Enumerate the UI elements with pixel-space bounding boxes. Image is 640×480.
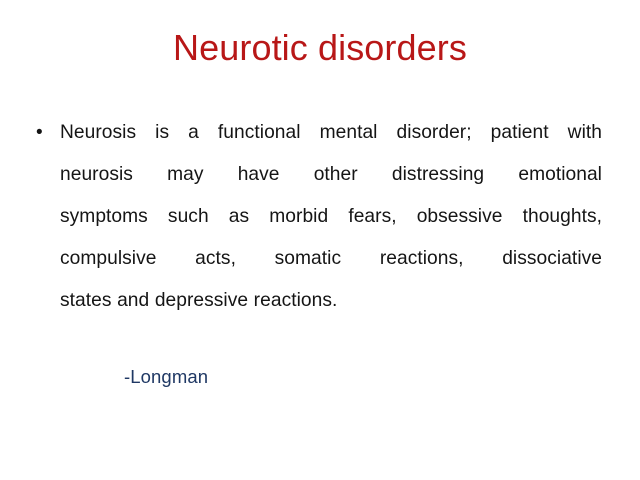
page-title: Neurotic disorders	[0, 26, 640, 70]
body-line: Neurosis is a functional mental disorder…	[60, 112, 602, 154]
body-line: states and depressive reactions.	[60, 280, 602, 322]
presentation-slide: Neurotic disorders • Neurosis is a funct…	[0, 0, 640, 480]
source-attribution: -Longman	[124, 364, 208, 390]
list-item: • Neurosis is a functional mental disord…	[0, 112, 640, 322]
bullet-point-icon: •	[36, 112, 50, 154]
body-line: compulsive acts, somatic reactions, diss…	[60, 238, 602, 280]
bullet-item-label: Neurosis is a functional mental disorder…	[60, 112, 602, 322]
body-line: symptoms such as morbid fears, obsessive…	[60, 196, 602, 238]
body-content: • Neurosis is a functional mental disord…	[0, 112, 640, 322]
body-line: neurosis may have other distressing emot…	[60, 154, 602, 196]
